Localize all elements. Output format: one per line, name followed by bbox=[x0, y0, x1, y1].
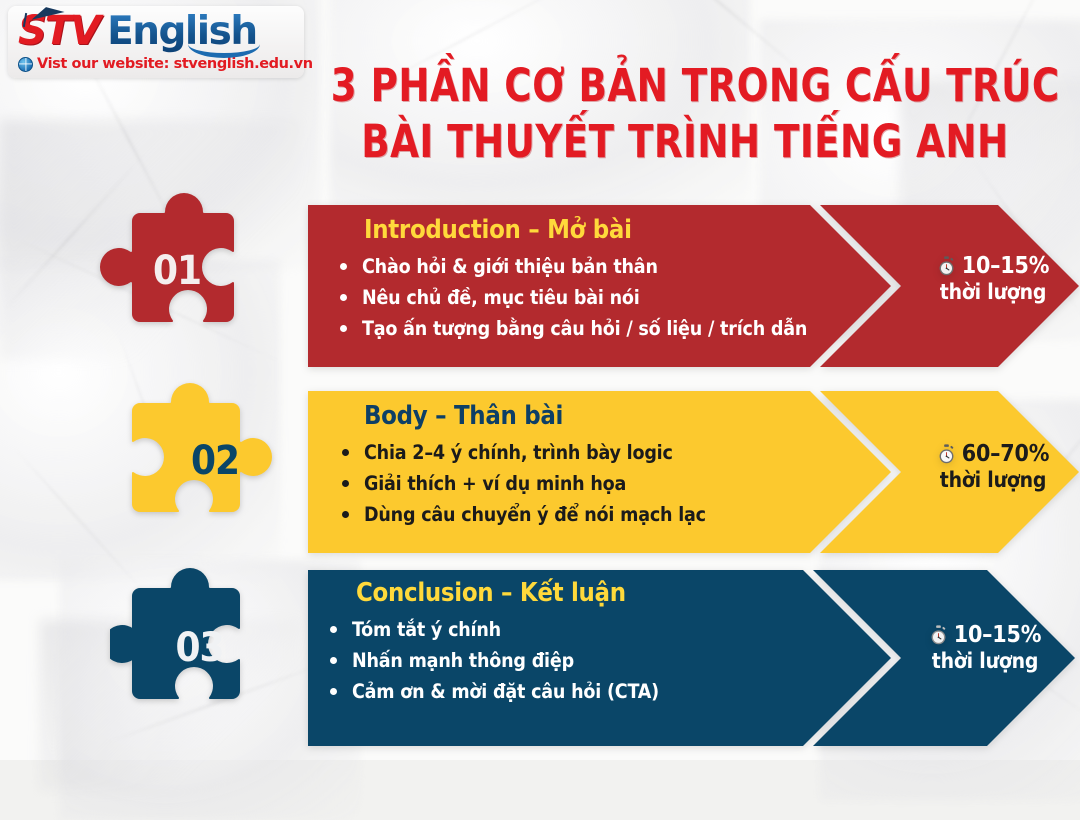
band-bullet-item: Nêu chủ đề, mục tiêu bài nói bbox=[336, 282, 807, 313]
band-bullet-item: Nhấn mạnh thông điệp bbox=[326, 645, 659, 676]
band-bullet-item: Tóm tắt ý chính bbox=[326, 614, 659, 645]
puzzle-piece-01: 01 bbox=[88, 183, 258, 358]
step-band-introduction: Introduction – Mở bài Chào hỏi & giới th… bbox=[308, 205, 1080, 367]
stopwatch-icon bbox=[937, 444, 956, 464]
duration-percent-row: 10–15% bbox=[890, 622, 1080, 648]
band-text-block: Conclusion – Kết luận Tóm tắt ý chính Nh… bbox=[356, 578, 659, 707]
duration-label: thời lượng bbox=[898, 280, 1080, 304]
duration-label: thời lượng bbox=[898, 468, 1080, 492]
puzzle-piece-03: 03 bbox=[110, 558, 285, 738]
brand-logo[interactable]: STV English Vist our website: stvenglish… bbox=[8, 6, 304, 78]
band-heading: Conclusion – Kết luận bbox=[356, 578, 659, 608]
page-title-line-2: BÀI THUYẾT TRÌNH TIẾNG ANH bbox=[331, 114, 1039, 170]
band-heading: Body – Thân bài bbox=[364, 401, 706, 431]
duration-badge: 10–15% thời lượng bbox=[898, 253, 1080, 304]
duration-percent-row: 10–15% bbox=[898, 253, 1080, 279]
duration-badge: 10–15% thời lượng bbox=[890, 622, 1080, 673]
stopwatch-icon bbox=[937, 256, 956, 276]
duration-label: thời lượng bbox=[890, 649, 1080, 673]
band-bullet-item: Chào hỏi & giới thiệu bản thân bbox=[336, 251, 807, 282]
globe-icon bbox=[18, 57, 33, 72]
band-bullet-item: Chia 2–4 ý chính, trình bày logic bbox=[338, 437, 706, 468]
duration-percent: 10–15% bbox=[954, 622, 1041, 648]
band-text-block: Introduction – Mở bài Chào hỏi & giới th… bbox=[364, 215, 807, 344]
duration-badge: 60–70% thời lượng bbox=[898, 441, 1080, 492]
puzzle-piece-02: 02 bbox=[118, 373, 288, 548]
duration-percent-row: 60–70% bbox=[898, 441, 1080, 467]
band-bullet-item: Cảm ơn & mời đặt câu hỏi (CTA) bbox=[326, 676, 659, 707]
page-title: 3 PHẦN CƠ BẢN TRONG CẤU TRÚC BÀI THUYẾT … bbox=[300, 58, 1070, 170]
band-bullet-list: Chào hỏi & giới thiệu bản thân Nêu chủ đ… bbox=[336, 251, 807, 344]
logo-wordmark: STV English bbox=[18, 9, 296, 53]
band-text-block: Body – Thân bài Chia 2–4 ý chính, trình … bbox=[364, 401, 706, 530]
logo-website-text: Vist our website: stvenglish.edu.vn bbox=[37, 56, 313, 72]
band-bullet-item: Tạo ấn tượng bằng câu hỏi / số liệu / tr… bbox=[336, 313, 807, 344]
stopwatch-icon bbox=[929, 625, 948, 645]
duration-percent: 60–70% bbox=[962, 441, 1049, 467]
logo-website-bar: Vist our website: stvenglish.edu.vn bbox=[18, 54, 296, 74]
band-bullet-list: Tóm tắt ý chính Nhấn mạnh thông điệp Cảm… bbox=[326, 614, 659, 707]
band-bullet-list: Chia 2–4 ý chính, trình bày logic Giải t… bbox=[338, 437, 706, 530]
step-band-body: Body – Thân bài Chia 2–4 ý chính, trình … bbox=[308, 391, 1080, 553]
band-bullet-item: Dùng câu chuyển ý để nói mạch lạc bbox=[338, 499, 706, 530]
band-heading: Introduction – Mở bài bbox=[364, 215, 807, 245]
page-title-line-1: 3 PHẦN CƠ BẢN TRONG CẤU TRÚC bbox=[331, 58, 1039, 114]
duration-percent: 10–15% bbox=[962, 253, 1049, 279]
band-bullet-item: Giải thích + ví dụ minh họa bbox=[338, 468, 706, 499]
step-band-conclusion: Conclusion – Kết luận Tóm tắt ý chính Nh… bbox=[308, 570, 1076, 746]
